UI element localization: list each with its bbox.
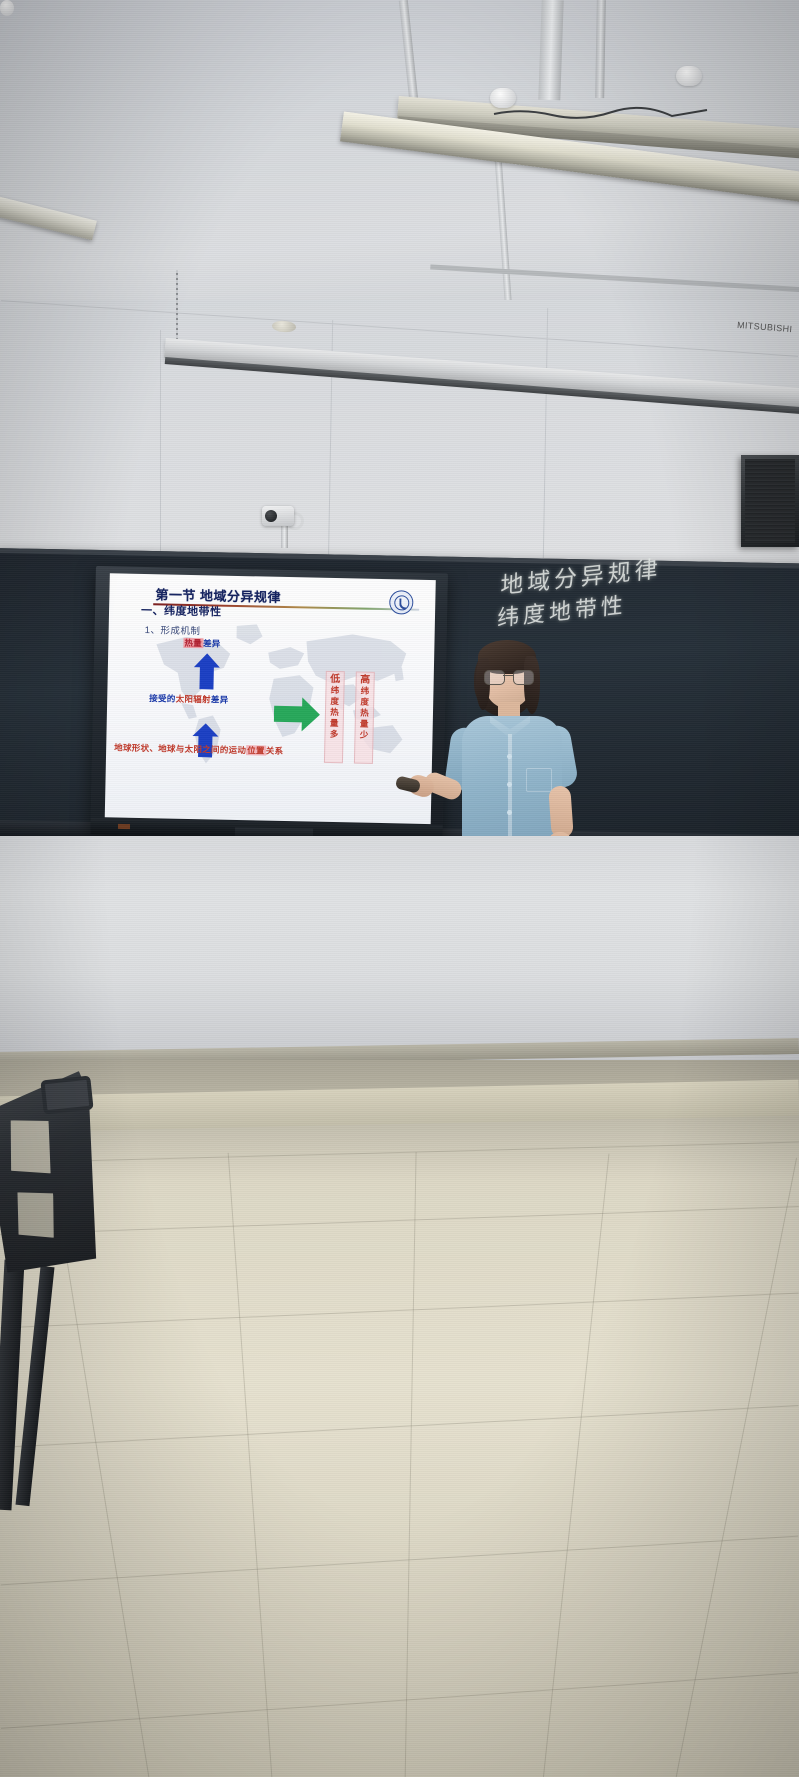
label-received-radiation-suffix: 差异 xyxy=(211,694,229,704)
column-low-char-2: 度 xyxy=(330,696,339,707)
label-received-radiation-highlight: 太阳辐射 xyxy=(176,694,211,705)
slide-heading-2: 一、纬度地带性 xyxy=(141,602,222,620)
slide-heading-3: 1、形成机制 xyxy=(145,622,201,637)
lamp-left-mount xyxy=(0,0,14,16)
column-high-char-5: 少 xyxy=(360,730,369,741)
wall-speaker xyxy=(741,455,799,547)
ceiling-pipe-vertical-1 xyxy=(399,0,418,100)
glasses-lens-right xyxy=(513,670,534,685)
label-heat-difference-highlight: 热量 xyxy=(183,638,203,648)
glasses-bridge xyxy=(503,675,513,676)
ceiling-fixture-knob-1 xyxy=(490,88,516,108)
tile-grout-v5 xyxy=(674,1158,797,1777)
column-high-char-1: 纬 xyxy=(361,686,370,697)
column-low-char-4: 量 xyxy=(330,718,339,729)
camera-lens-icon xyxy=(265,510,277,522)
wall-seam-vertical-3 xyxy=(543,308,548,558)
column-high-char-0: 高 xyxy=(360,675,370,686)
chair-top-handle xyxy=(40,1075,93,1114)
green-right-arrow xyxy=(274,697,321,732)
interactive-flat-panel-display[interactable]: 第一节 地域分异规律 一、纬度地带性 1、形成机制 热量差异 xyxy=(90,566,448,841)
shirt-button-2 xyxy=(507,782,512,787)
ceiling-pipe-horizontal xyxy=(430,264,799,292)
tile-grout-v3 xyxy=(404,1152,416,1777)
tiled-floor xyxy=(0,1060,799,1777)
screen-chain xyxy=(176,270,178,348)
tile-grout-h5 xyxy=(1,1536,799,1586)
speaker-grille xyxy=(745,459,795,543)
column-high-latitude: 高 纬 度 热 量 少 xyxy=(354,671,375,763)
ceiling-fixture-knob-2 xyxy=(676,66,702,86)
chair-backrest-cutout-1 xyxy=(4,1115,56,1179)
tile-grout-h2 xyxy=(0,1206,799,1235)
label-heat-difference: 热量差异 xyxy=(183,637,220,650)
tile-grout-v2 xyxy=(228,1153,274,1777)
ceiling-fluorescent-lamp-left xyxy=(0,196,97,241)
label-received-radiation-prefix: 接受的 xyxy=(149,693,176,704)
lower-wall-wainscot xyxy=(0,836,799,1066)
ceiling xyxy=(0,0,799,320)
classroom-photo-scene: MITSUBISHI 地域分异规律 纬度地带性 xyxy=(0,0,799,1777)
tile-grout-v4 xyxy=(542,1154,610,1777)
stacked-plastic-chair[interactable] xyxy=(0,1070,110,1540)
ceiling-pipe-diagonal xyxy=(495,160,512,310)
column-low-char-0: 低 xyxy=(330,674,340,685)
glasses-icon xyxy=(484,670,532,683)
column-low-latitude: 低 纬 度 热 量 多 xyxy=(324,671,345,763)
tile-grout-h4 xyxy=(1,1405,799,1448)
university-seal-logo xyxy=(389,590,413,614)
logo-inner-mark xyxy=(394,595,409,610)
teacher-shirt-pocket xyxy=(526,768,552,792)
label-bottom-a: 地球形状、地球与太阳之间的运动 xyxy=(114,742,246,755)
wall-seam-horizontal xyxy=(1,300,798,357)
shirt-button-3 xyxy=(507,810,512,815)
column-high-char-2: 度 xyxy=(360,697,369,708)
teacher-arm-right xyxy=(548,785,574,838)
tile-grout-h3 xyxy=(0,1293,798,1329)
label-bottom-highlight: 位置 xyxy=(246,745,266,755)
ceiling-pipe-vertical-3 xyxy=(595,0,606,98)
column-high-char-4: 量 xyxy=(360,719,369,730)
tile-grout-h6 xyxy=(1,1672,798,1729)
presentation-slide: 第一节 地域分异规律 一、纬度地带性 1、形成机制 热量差异 xyxy=(105,573,436,824)
column-low-char-1: 纬 xyxy=(331,685,340,696)
teacher-hair-right xyxy=(524,656,540,714)
label-bottom-b: 关系 xyxy=(266,746,284,756)
column-high-char-3: 热 xyxy=(360,708,369,719)
blue-up-arrow-top xyxy=(193,653,220,690)
display-side-port xyxy=(118,824,130,829)
shirt-button-1 xyxy=(507,754,512,759)
column-low-char-3: 热 xyxy=(330,707,339,718)
wall-seam-vertical-1 xyxy=(160,330,161,580)
label-received-radiation: 接受的太阳辐射差异 xyxy=(149,692,228,706)
glasses-lens-left xyxy=(484,670,505,685)
ceiling-wires xyxy=(492,106,712,120)
label-heat-difference-rest: 差异 xyxy=(203,638,221,648)
column-low-char-5: 多 xyxy=(330,729,339,740)
ceiling-pipe-vertical-2 xyxy=(538,0,563,100)
display-screen[interactable]: 第一节 地域分异规律 一、纬度地带性 1、形成机制 热量差异 xyxy=(105,573,436,824)
chair-backrest-cutout-2 xyxy=(13,1187,60,1242)
